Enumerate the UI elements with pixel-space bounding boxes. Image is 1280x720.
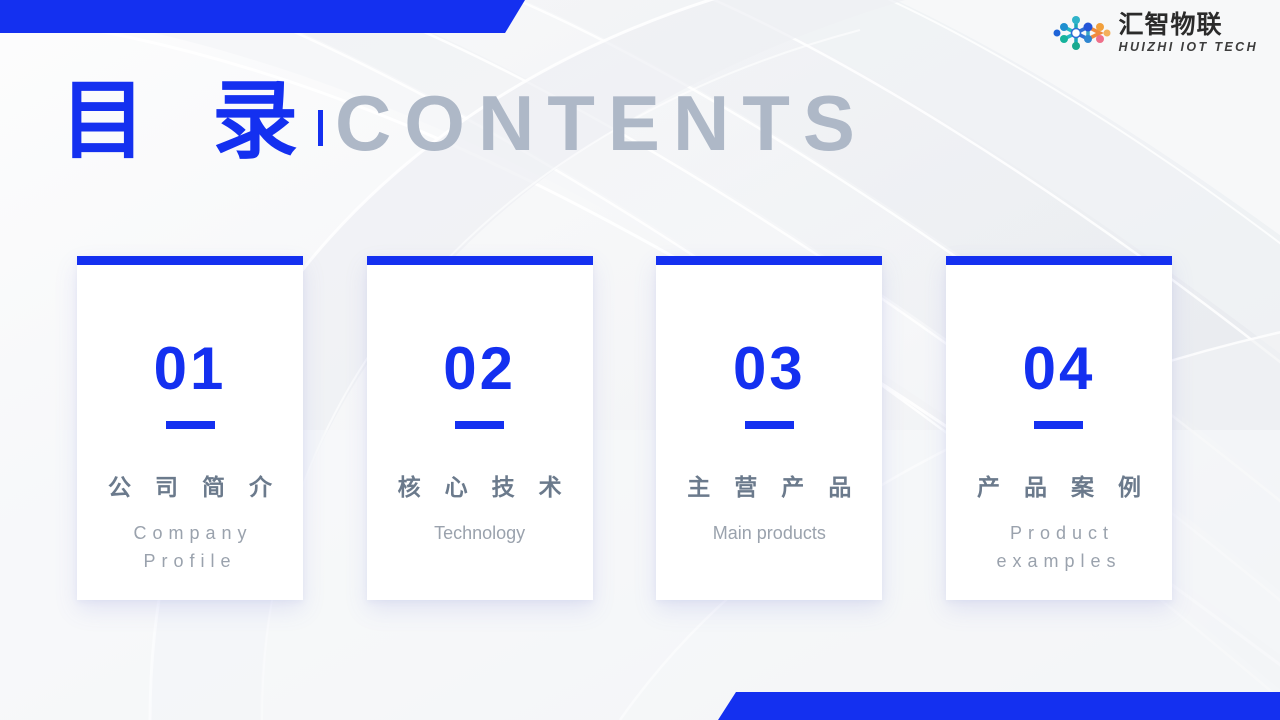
card-underline-dash (1034, 421, 1083, 429)
title-separator-bar (318, 110, 323, 146)
card-number: 01 (154, 339, 227, 399)
logo-name-cn: 汇智物联 (1119, 12, 1258, 37)
page-title-en: CONTENTS (335, 84, 868, 162)
card-number: 04 (1023, 339, 1096, 399)
agenda-card-03[interactable]: 03 主 营 产 品 Main products (656, 256, 882, 600)
card-label-en: Technology (424, 519, 535, 548)
top-blue-bar (0, 0, 525, 33)
card-label-cn: 核 心 技 术 (390, 475, 570, 503)
molecule-network-icon (1053, 13, 1111, 53)
brand-logo: 汇智物联 HUIZHI IOT TECH (1053, 12, 1258, 54)
page-title: 目 录 CONTENTS (60, 78, 868, 164)
card-accent-bar (656, 256, 882, 265)
agenda-card-list: 01 公 司 简 介 Company Profile 02 核 心 技 术 Te… (77, 256, 1172, 600)
agenda-card-01[interactable]: 01 公 司 简 介 Company Profile (77, 256, 303, 600)
bottom-blue-bar (718, 692, 1280, 720)
card-label-en: Company Profile (77, 519, 303, 577)
card-label-cn: 公 司 简 介 (100, 475, 280, 503)
card-underline-dash (166, 421, 215, 429)
agenda-card-02[interactable]: 02 核 心 技 术 Technology (367, 256, 593, 600)
card-label-en: Product examples (946, 519, 1172, 577)
card-number: 02 (443, 339, 516, 399)
card-number: 03 (733, 339, 806, 399)
card-label-en: Main products (703, 519, 836, 548)
card-underline-dash (455, 421, 504, 429)
card-label-cn: 主 营 产 品 (679, 475, 859, 503)
card-accent-bar (77, 256, 303, 265)
card-label-cn: 产 品 案 例 (969, 475, 1149, 503)
slide-canvas: 目 录 CONTENTS 汇智物联 (0, 0, 1280, 720)
logo-text-block: 汇智物联 HUIZHI IOT TECH (1119, 12, 1258, 54)
card-accent-bar (367, 256, 593, 265)
agenda-card-04[interactable]: 04 产 品 案 例 Product examples (946, 256, 1172, 600)
logo-name-en: HUIZHI IOT TECH (1119, 41, 1258, 54)
card-underline-dash (745, 421, 794, 429)
page-title-cn: 目 录 (60, 78, 316, 164)
card-accent-bar (946, 256, 1172, 265)
